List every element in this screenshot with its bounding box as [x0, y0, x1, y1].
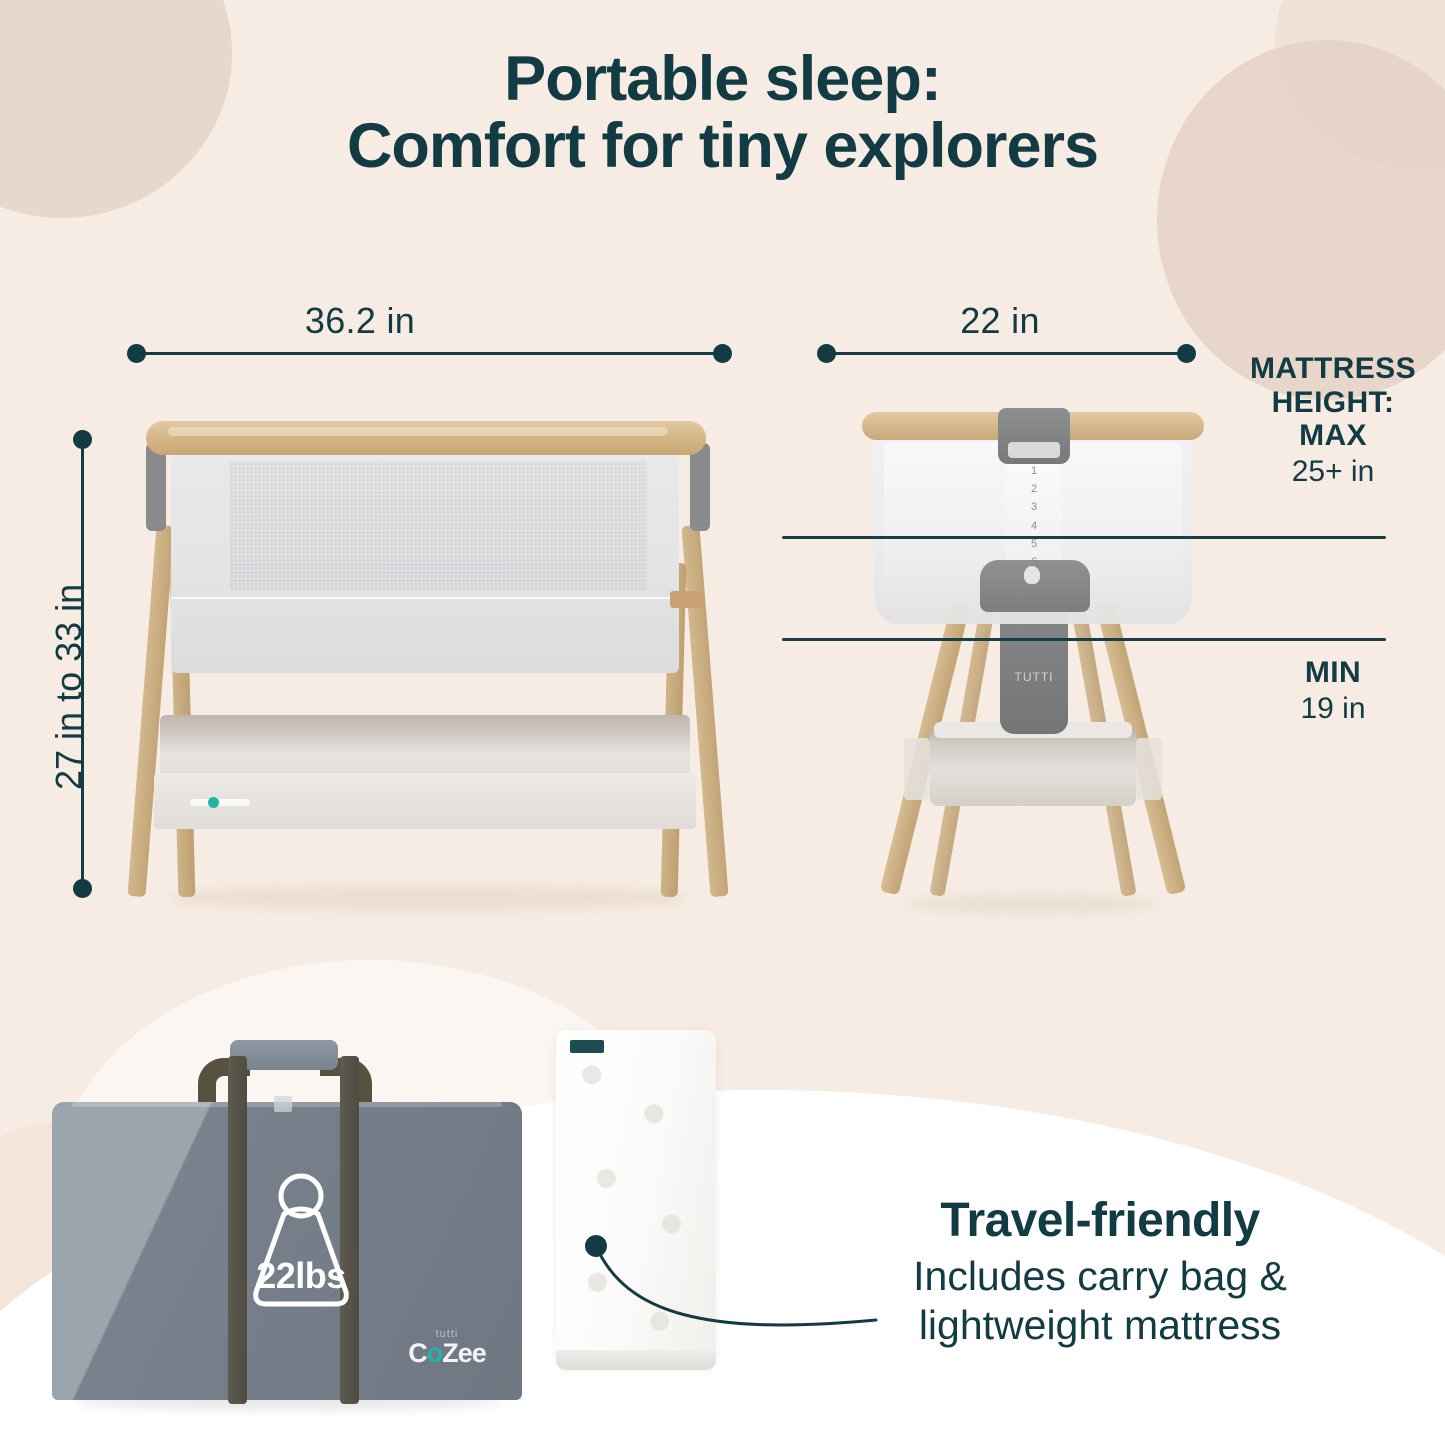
- front-view-rail-highlight: [168, 427, 668, 436]
- side-view-shadow: [908, 894, 1158, 914]
- side-view-flap-right: [1136, 738, 1162, 800]
- side-view-brand-label: TUTTI: [1000, 670, 1068, 684]
- front-view-leg-left: [127, 525, 174, 897]
- width-dim-dot-right: [713, 344, 732, 363]
- front-view-joint-left: [146, 443, 166, 531]
- depth-dimension-line: [826, 352, 1186, 355]
- page-title-line-2: Comfort for tiny explorers: [0, 113, 1445, 180]
- height-position-1: 1: [1031, 466, 1037, 477]
- width-dimension-label: 36.2 in: [0, 300, 720, 342]
- weight-value: 22lbs: [236, 1255, 366, 1297]
- mattress-brand-tag-icon: [570, 1040, 604, 1053]
- bassinet-side-view-image: TUTTI 1 2 3 4 5 6: [848, 402, 1218, 914]
- height-position-5: 5: [1031, 539, 1037, 550]
- height-position-4: 4: [1031, 521, 1037, 532]
- side-view-flap-left: [904, 738, 930, 800]
- mattress-height-max-value: 25+ in: [1228, 455, 1438, 489]
- page-title-line-1: Portable sleep:: [504, 44, 941, 114]
- mattress-height-max-label: MAX: [1228, 419, 1438, 453]
- carry-bag-zipper-pull: [274, 1096, 292, 1112]
- front-view-mesh-panel: [229, 461, 647, 591]
- side-view-clamp-tab: [1008, 442, 1060, 458]
- height-dimension-label: 27 in to 33 in: [48, 584, 90, 790]
- brand-dot-icon: [208, 797, 219, 808]
- front-view-shadow: [168, 885, 688, 911]
- carry-bag-brand: tutti CoZee: [382, 1328, 512, 1367]
- page-title: Portable sleep: Comfort for tiny explore…: [0, 46, 1445, 180]
- mattress-height-max-block: MATTRESS HEIGHT: MAX 25+ in: [1228, 352, 1438, 488]
- depth-dim-dot-right: [1177, 344, 1196, 363]
- front-view-seam: [171, 597, 679, 599]
- front-view-joint-right: [690, 443, 710, 531]
- front-view-basket-strip: [190, 799, 250, 806]
- mattress-height-title-line-1: MATTRESS: [1228, 352, 1438, 386]
- travel-friendly-block: Travel-friendly Includes carry bag & lig…: [840, 1196, 1360, 1349]
- mattress-min-rule: [782, 638, 1386, 641]
- mattress-height-title-line-2: HEIGHT:: [1228, 386, 1438, 420]
- travel-friendly-sub-line-1: Includes carry bag &: [840, 1252, 1360, 1300]
- height-position-6: 6: [1031, 557, 1037, 568]
- height-dim-dot-bottom: [73, 879, 92, 898]
- side-view-height-scale: 1 2 3 4 5 6: [1006, 462, 1062, 572]
- width-dimension-line: [136, 352, 722, 355]
- side-view-storage-tray: [930, 728, 1136, 806]
- travel-friendly-title: Travel-friendly: [840, 1196, 1360, 1246]
- height-position-3: 3: [1031, 502, 1037, 513]
- front-view-leg-right: [681, 525, 728, 897]
- height-dim-dot-top: [73, 430, 92, 449]
- depth-dim-dot-left: [817, 344, 836, 363]
- mattress-height-min-block: MIN 19 in: [1228, 656, 1438, 725]
- width-dim-dot-left: [127, 344, 146, 363]
- carry-bag-image: 22lbs tutti CoZee: [52, 1040, 522, 1400]
- brand-o-dot-icon: o: [427, 1338, 443, 1368]
- depth-dimension-label: 22 in: [800, 300, 1200, 342]
- height-position-2: 2: [1031, 484, 1037, 495]
- bassinet-front-view-image: [128, 415, 728, 905]
- front-view-fabric-body: [171, 451, 679, 673]
- front-view-leather-tag-icon: [670, 591, 704, 608]
- mattress-height-min-value: 19 in: [1228, 692, 1438, 726]
- mattress-height-min-label: MIN: [1228, 656, 1438, 690]
- carry-bag-brand-main: CoZee: [382, 1340, 512, 1367]
- mattress-max-rule: [782, 536, 1386, 539]
- travel-friendly-sub-line-2: lightweight mattress: [840, 1301, 1360, 1349]
